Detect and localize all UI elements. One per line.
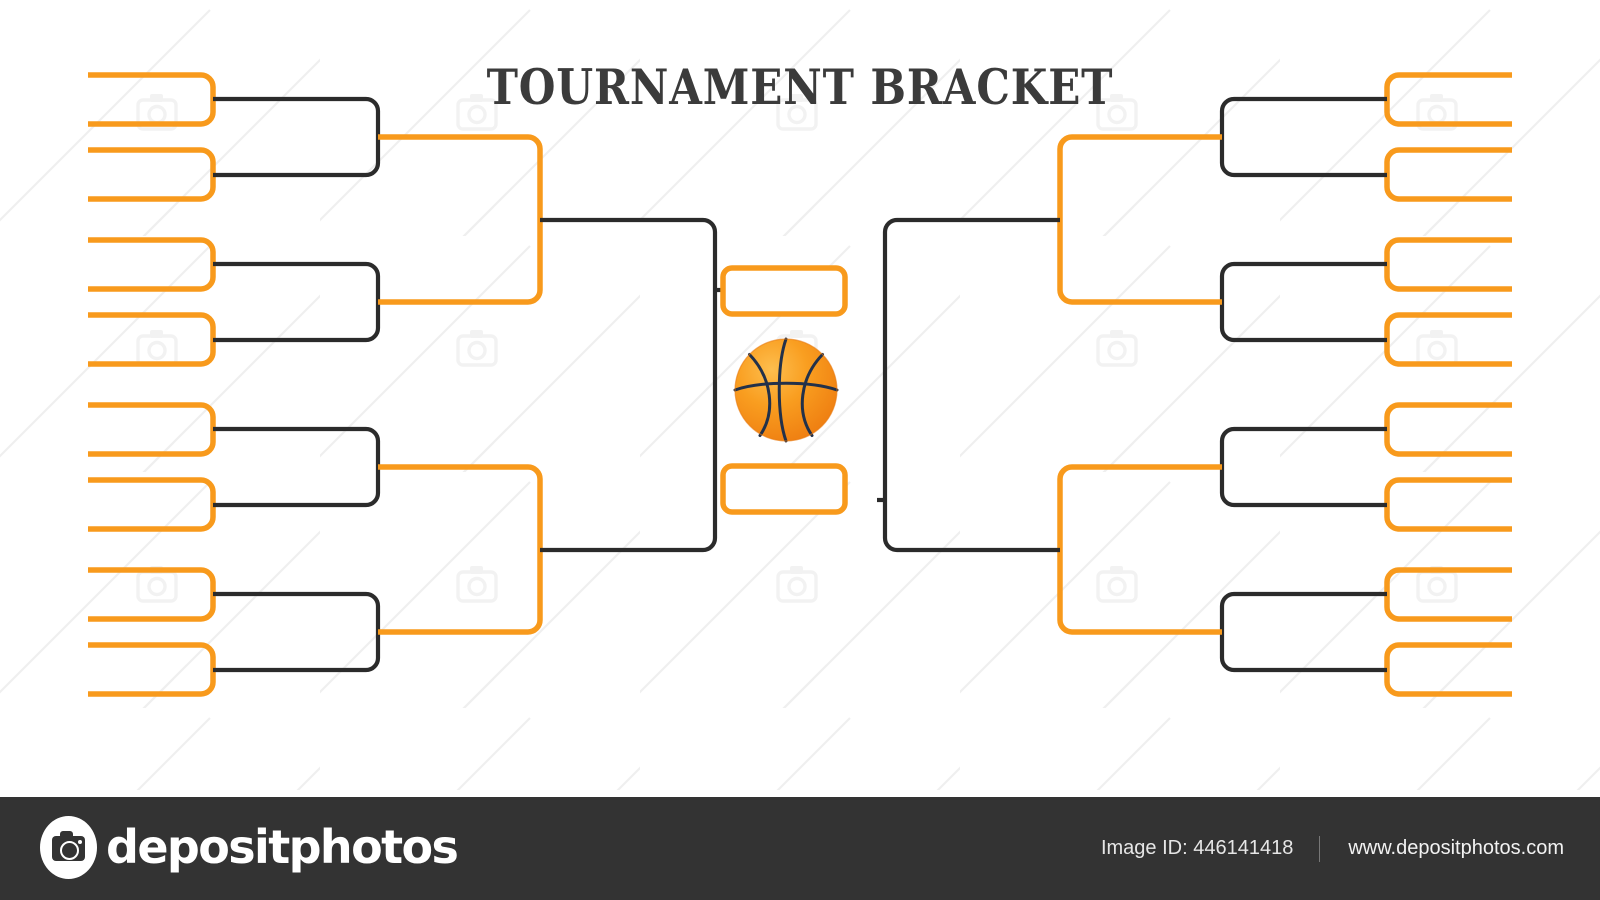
camera-icon <box>40 816 97 879</box>
finalist-bottom-box[interactable] <box>723 466 845 512</box>
basketball-icon <box>735 339 837 441</box>
logo-wordmark: depositphotos <box>106 824 457 870</box>
page-title: TOURNAMENT BRACKET <box>112 58 1488 116</box>
footer-bar: depositphotos Image ID: 446141418 www.de… <box>0 797 1600 900</box>
depositphotos-logo[interactable]: depositphotos <box>40 816 457 879</box>
bracket-poster: TOURNAMENT BRACKET depositphotos Image I… <box>0 0 1600 900</box>
website-link[interactable]: www.depositphotos.com <box>1320 837 1564 860</box>
tournament-bracket-diagram <box>0 0 1600 790</box>
footer-meta: Image ID: 446141418 www.depositphotos.co… <box>1101 797 1564 900</box>
image-id-label: Image ID: 446141418 <box>1101 837 1319 860</box>
finalist-top-box[interactable] <box>723 268 845 314</box>
